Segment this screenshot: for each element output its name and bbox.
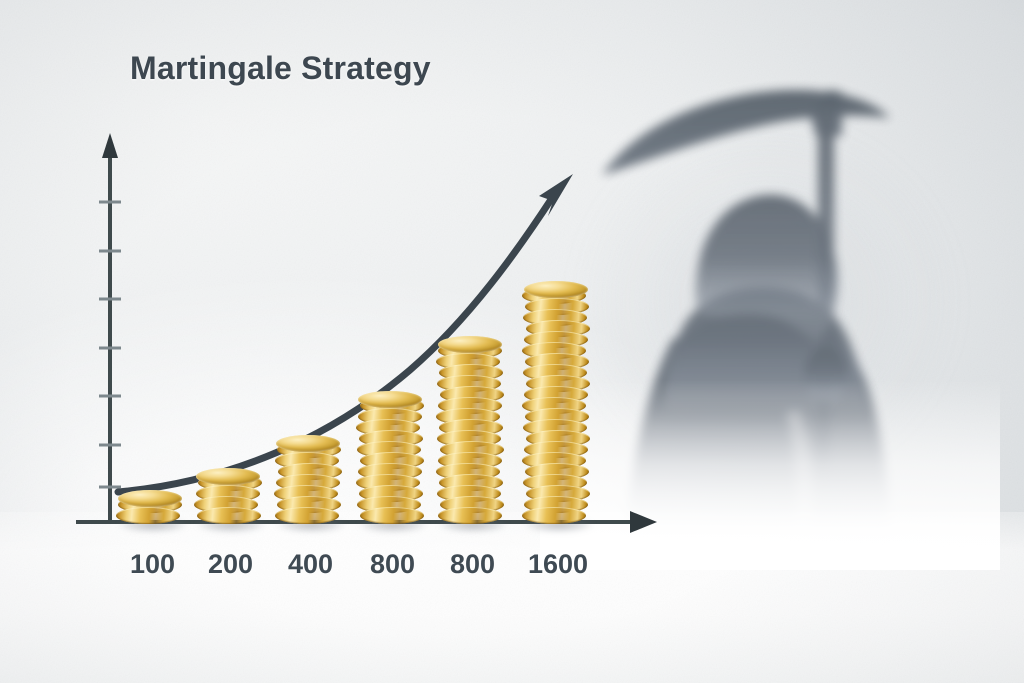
- coin-stack-800-3: [358, 0, 422, 522]
- illustration-canvas: Martingale Strategy 1002004008008001600: [0, 0, 1024, 683]
- coin-stack-100-0: [118, 0, 182, 522]
- x-axis-label-100-0: 100: [130, 549, 175, 580]
- coin-stack-800-4: [438, 0, 502, 522]
- coin-stack-1600-5: [524, 0, 588, 522]
- coin: [360, 507, 424, 524]
- coin: [438, 507, 502, 524]
- x-axis-label-1600-5: 1600: [528, 549, 588, 580]
- coin: [522, 507, 586, 524]
- coin: [197, 507, 261, 524]
- x-axis-label-800-3: 800: [370, 549, 415, 580]
- coin-stack-200-1: [196, 0, 260, 522]
- coin-stack-top-face: [524, 281, 588, 298]
- x-axis-arrowhead: [630, 511, 657, 533]
- coin-stack-top-face: [196, 468, 260, 485]
- coin: [275, 507, 339, 524]
- coin: [116, 507, 180, 524]
- x-axis-label-200-1: 200: [208, 549, 253, 580]
- coin-stack-top-face: [358, 391, 422, 408]
- coin-stack-top-face: [118, 490, 182, 507]
- x-axis-label-800-4: 800: [450, 549, 495, 580]
- coin-stack-top-face: [438, 336, 502, 353]
- coin-stack-400-2: [276, 0, 340, 522]
- x-axis-label-400-2: 400: [288, 549, 333, 580]
- y-axis-arrowhead: [102, 133, 118, 158]
- coin-stack-top-face: [276, 435, 340, 452]
